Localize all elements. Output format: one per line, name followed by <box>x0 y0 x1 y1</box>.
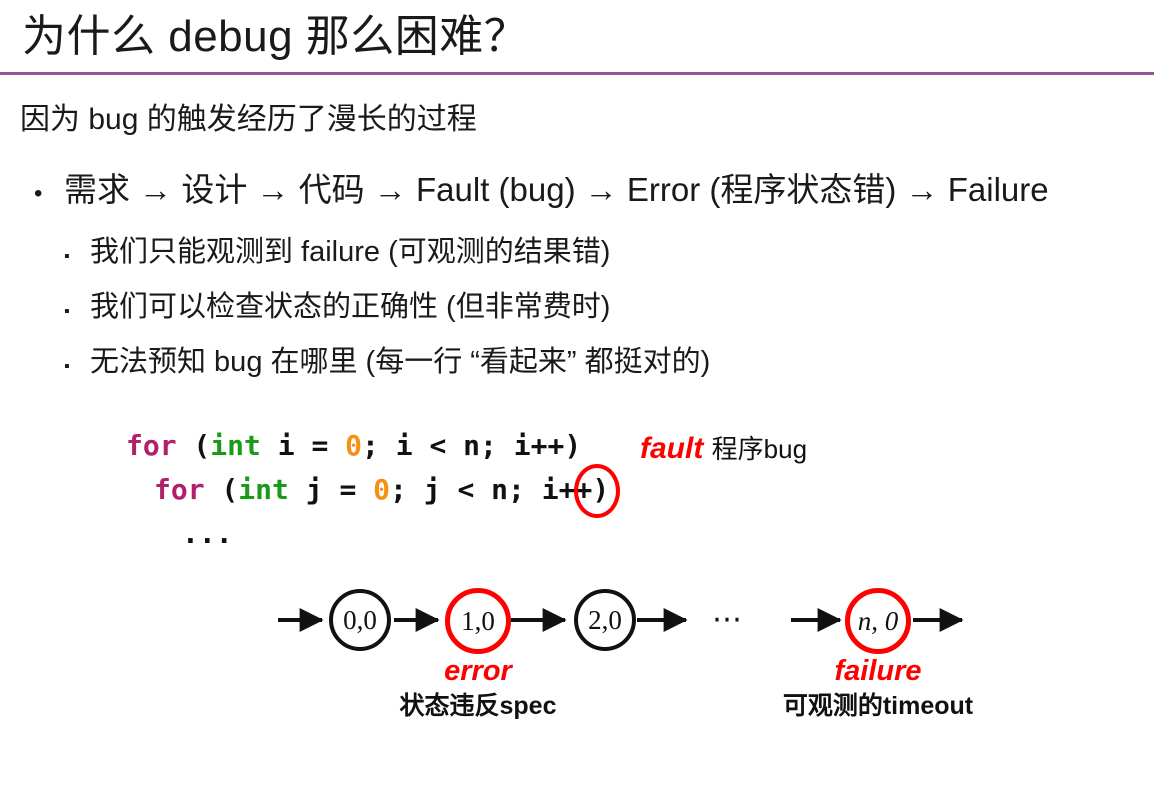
error-tag-label: error <box>378 654 578 688</box>
caption-failure: failure 可观测的timeout <box>778 654 978 724</box>
code-number-zero: 0 <box>373 473 390 506</box>
code-line-1: for (int i = 0; i < n; i++) <box>126 429 581 462</box>
bullet-level2-unknown-bug: ▪ 无法预知 bug 在哪里 (每一行 “看起来” 都挺对的) <box>64 342 710 387</box>
state-diagram-ellipsis: ⋯ <box>712 602 744 637</box>
code-number-zero: 0 <box>345 429 362 462</box>
code-expr: i = <box>261 429 345 462</box>
bullet-level1: • 需求 → 设计 → 代码 → Fault (bug) → Error (程序… <box>34 168 1049 216</box>
bullet-level1-label: 需求 → 设计 → 代码 → Fault (bug) → Error (程序状态… <box>64 168 1049 212</box>
bullet-square-icon: ▪ <box>64 347 90 387</box>
code-punct: ( <box>177 429 211 462</box>
fault-annotation: fault 程序bug <box>640 429 807 469</box>
bullet-level2-label: 我们只能观测到 failure (可观测的结果错) <box>90 232 610 272</box>
code-type-int: int <box>238 473 289 506</box>
caption-error: error 状态违反spec <box>378 654 578 724</box>
state-diagram: 0,0 1,0 2,0 ⋯ n, 0 error 状态违反spec failur… <box>0 560 1154 750</box>
bug-highlight-ellipse-icon <box>574 464 620 518</box>
failure-sub-label: 可观测的timeout <box>778 688 978 724</box>
bullet-level2-check-state: ▪ 我们可以检查状态的正确性 (但非常费时) <box>64 287 610 332</box>
state-node-1-0: 1,0 <box>445 588 511 654</box>
state-node-n-0: n, 0 <box>845 588 911 654</box>
bullet-square-icon: ▪ <box>64 237 90 277</box>
bullet-level2-observe-failure: ▪ 我们只能观测到 failure (可观测的结果错) <box>64 232 610 277</box>
lead-text: 因为 bug 的触发经历了漫长的过程 <box>20 99 477 141</box>
state-node-2-0: 2,0 <box>574 589 636 651</box>
state-node-0-0: 0,0 <box>329 589 391 651</box>
slide: 为什么 debug 那么困难？ 因为 bug 的触发经历了漫长的过程 • 需求 … <box>0 0 1154 802</box>
title-divider <box>0 72 1154 75</box>
code-line-3: ... <box>126 512 233 556</box>
code-line-2: for (int j = 0; j < n; i++) <box>126 468 609 512</box>
page-title: 为什么 debug 那么困难？ <box>22 8 528 66</box>
code-keyword-for: for <box>126 429 177 462</box>
state-node-label: 0,0 <box>343 605 377 636</box>
state-node-label: 1,0 <box>461 606 495 637</box>
bullet-level2-label: 无法预知 bug 在哪里 (每一行 “看起来” 都挺对的) <box>90 342 710 382</box>
bullet-square-icon: ▪ <box>64 292 90 332</box>
fault-note-label: 程序bug <box>712 434 807 464</box>
code-type-int: int <box>210 429 261 462</box>
bullet-level2-label: 我们可以检查状态的正确性 (但非常费时) <box>90 287 610 327</box>
bullet-dot-icon: • <box>34 172 64 216</box>
code-expr: j = <box>289 473 373 506</box>
state-node-label: 2,0 <box>588 605 622 636</box>
failure-tag-label: failure <box>778 654 978 688</box>
code-keyword-for: for <box>154 473 205 506</box>
code-block: for (int i = 0; i < n; i++) for (int j =… <box>126 424 609 556</box>
error-sub-label: 状态违反spec <box>378 688 578 724</box>
fault-tag-label: fault <box>640 432 703 465</box>
code-punct: ( <box>205 473 239 506</box>
state-node-label: n, 0 <box>858 606 899 637</box>
code-tail: ; i < n; i++) <box>362 429 581 462</box>
